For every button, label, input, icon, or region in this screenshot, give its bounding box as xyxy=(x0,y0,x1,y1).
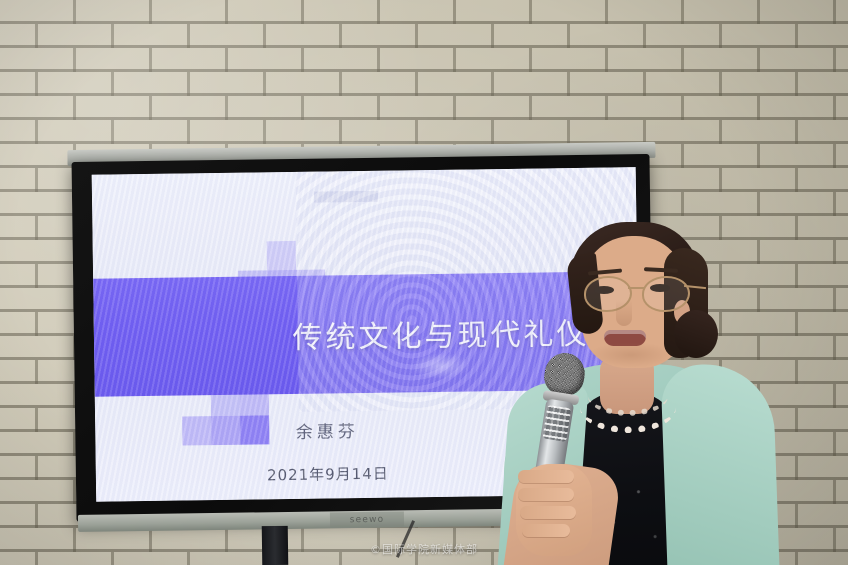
person-hair-bun xyxy=(674,310,718,358)
person-pearl-necklace-inner xyxy=(588,376,668,416)
person-cardigan-right xyxy=(660,362,779,565)
person-nose xyxy=(616,300,632,326)
photo-scene: 传统文化与现代礼仪 余惠芬 2021年9月14日 seewo xyxy=(0,0,848,565)
screen-glare xyxy=(410,353,470,380)
person-finger xyxy=(522,524,570,537)
watermark-text: ©国际学院新媒体部 xyxy=(0,541,848,557)
display-brand-logo: seewo xyxy=(330,511,404,527)
person-finger xyxy=(518,470,574,483)
person-chin-shadow xyxy=(588,342,674,368)
speaker-person xyxy=(488,214,788,565)
glasses-bridge xyxy=(628,287,644,289)
glasses-lens-right xyxy=(642,276,690,312)
person-finger xyxy=(520,506,576,519)
person-finger xyxy=(518,488,574,501)
person-glasses xyxy=(580,276,698,310)
